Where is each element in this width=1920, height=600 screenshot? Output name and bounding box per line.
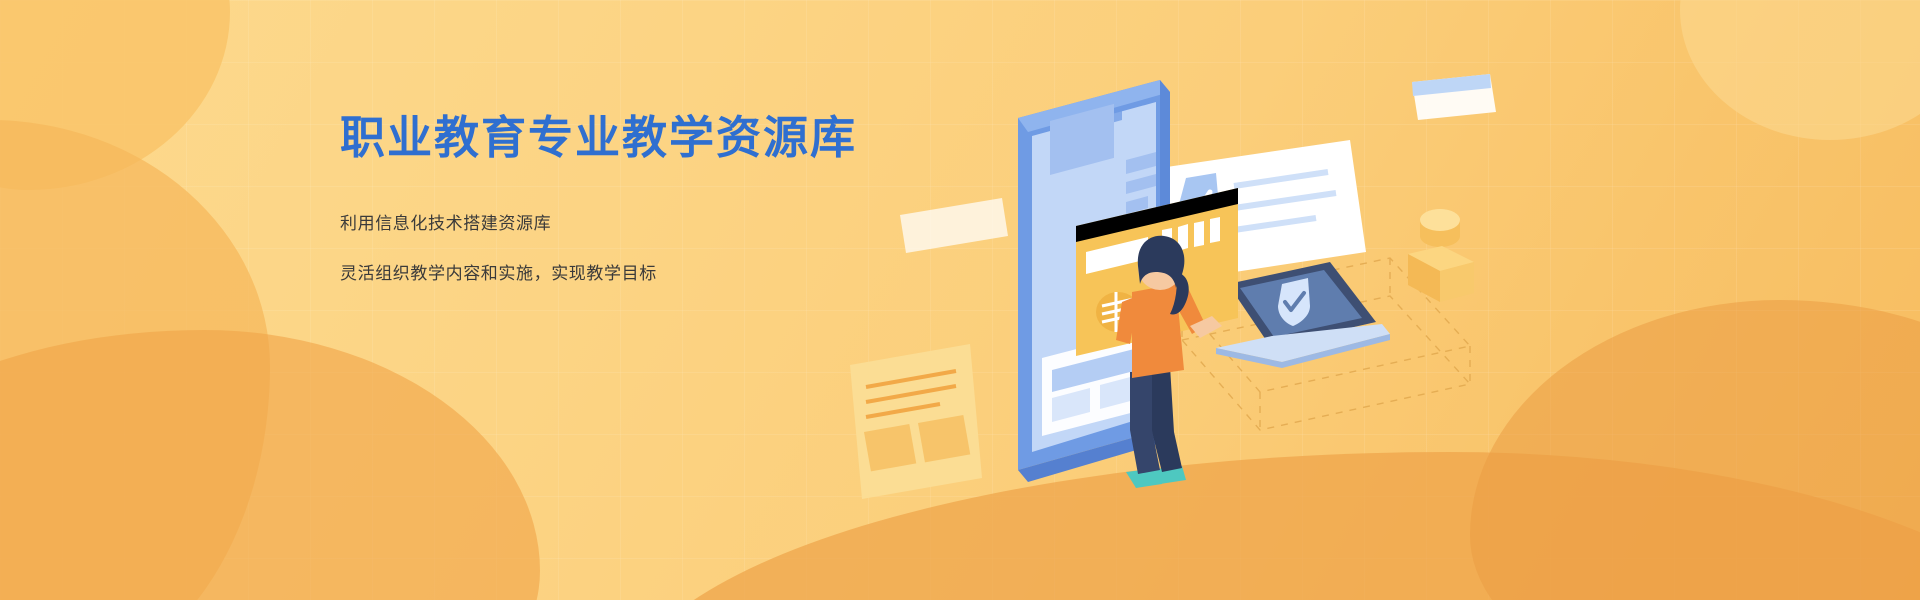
hero-banner: 职业教育专业教学资源库 利用信息化技术搭建资源库 灵活组织教学内容和实施，实现教… bbox=[0, 0, 1920, 600]
banner-copy-block: 职业教育专业教学资源库 利用信息化技术搭建资源库 灵活组织教学内容和实施，实现教… bbox=[340, 112, 900, 290]
banner-title: 职业教育专业教学资源库 bbox=[340, 112, 900, 164]
coin-box bbox=[1408, 209, 1474, 302]
banner-subtitle-line-1: 利用信息化技术搭建资源库 bbox=[340, 208, 900, 240]
floating-card-left bbox=[900, 198, 1008, 253]
banner-subtitle-line-2: 灵活组织教学内容和实施，实现教学目标 bbox=[340, 258, 900, 290]
floating-card-top bbox=[1412, 74, 1496, 120]
banner-illustration bbox=[830, 40, 1490, 560]
laptop-with-shield bbox=[1216, 262, 1390, 368]
document-card bbox=[850, 344, 982, 499]
